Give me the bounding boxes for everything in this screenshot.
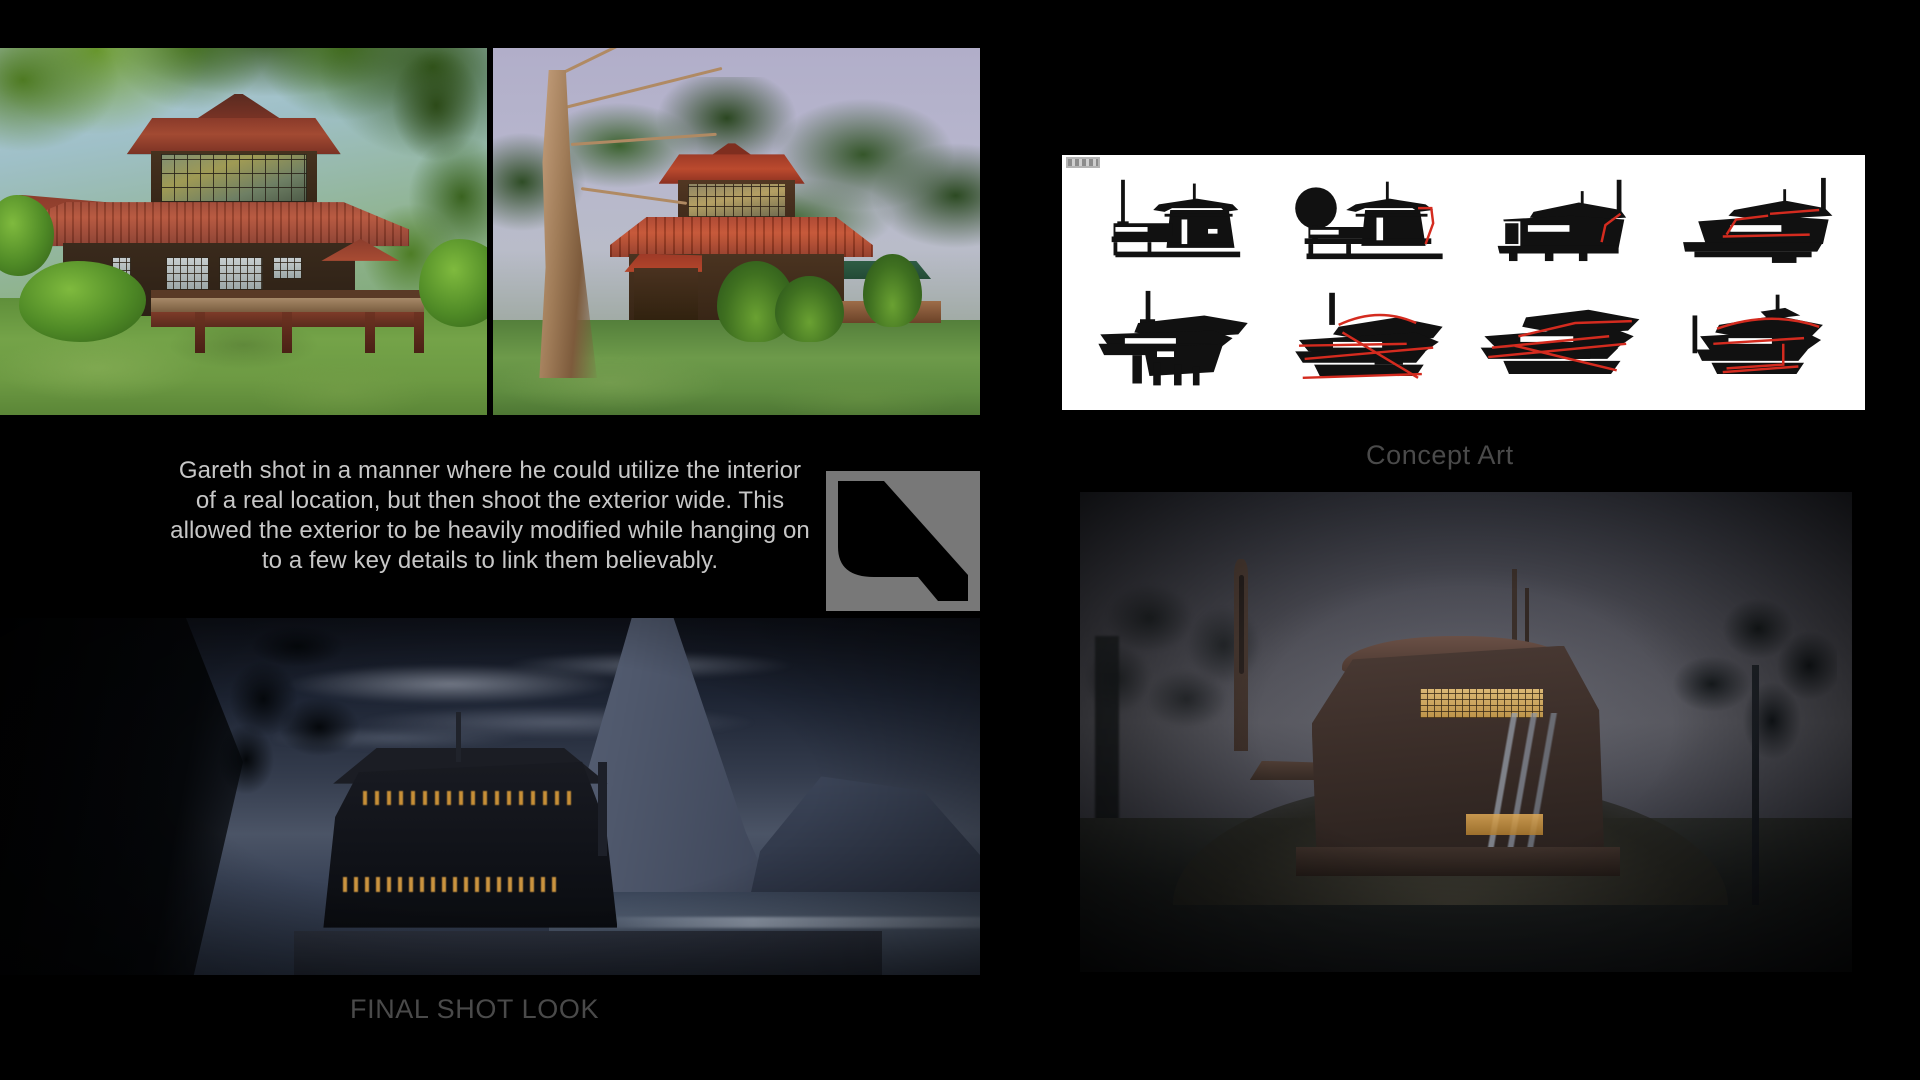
sheet-corner-tab-icon <box>1066 157 1100 168</box>
foreground-palm <box>775 276 843 342</box>
vignette <box>0 618 980 978</box>
logo-glyph-icon <box>826 471 980 611</box>
main-roof <box>610 217 873 257</box>
deck-post <box>195 312 205 352</box>
silhouette-domed-disc-on-pylons <box>1667 289 1852 393</box>
final-shot-caption: FINAL SHOT LOOK <box>350 994 599 1025</box>
letterbox-band <box>0 975 980 978</box>
silhouette-cantilever-platform-legs <box>1088 289 1273 393</box>
upper-glazing <box>688 184 785 217</box>
concept-thumbnail[interactable] <box>1281 176 1466 280</box>
slide-canvas: Gareth shot in a manner where he could u… <box>0 0 1920 1080</box>
final-shot-look-plate <box>0 618 980 978</box>
upper-glazing <box>161 154 307 202</box>
roof-tile-texture <box>0 202 409 246</box>
concept-thumbnail[interactable] <box>1281 289 1466 393</box>
concept-thumbnail[interactable] <box>1088 289 1273 393</box>
deck-post <box>414 312 424 352</box>
studio-logo-mark <box>826 471 980 611</box>
silhouette-pagoda-with-dish-antenna <box>1281 176 1466 280</box>
window <box>166 257 210 290</box>
annex <box>634 268 697 319</box>
silhouette-pagoda-block-mast-left <box>1088 176 1273 280</box>
concept-thumbnail[interactable] <box>1474 289 1659 393</box>
reference-photo-villa-with-tree <box>493 48 980 415</box>
3d-render-build <box>1080 492 1852 972</box>
silhouette-long-ramp-double-mast <box>1667 176 1852 280</box>
body-text: Gareth shot in a manner where he could u… <box>170 456 810 576</box>
window <box>273 257 302 279</box>
foreground-bush <box>19 261 146 342</box>
concept-thumbnail-grid <box>1084 171 1856 397</box>
reference-photo-daytime-villa <box>0 48 487 415</box>
concept-art-sheet <box>1062 155 1865 410</box>
silhouette-flat-stack-with-prow <box>1474 289 1659 393</box>
silhouette-swept-wedge-tall-mast <box>1474 176 1659 280</box>
upper-roof <box>127 118 341 155</box>
vignette <box>1080 492 1852 972</box>
deck-post <box>365 312 375 352</box>
concept-art-caption: Concept Art <box>1366 440 1514 471</box>
foreground-palm <box>863 254 921 327</box>
silhouette-layered-wing-deck <box>1281 289 1466 393</box>
deck-post <box>282 312 292 352</box>
concept-thumbnail[interactable] <box>1474 176 1659 280</box>
concept-thumbnail[interactable] <box>1667 289 1852 393</box>
window <box>219 257 263 290</box>
concept-thumbnail[interactable] <box>1667 176 1852 280</box>
concept-thumbnail[interactable] <box>1088 176 1273 280</box>
